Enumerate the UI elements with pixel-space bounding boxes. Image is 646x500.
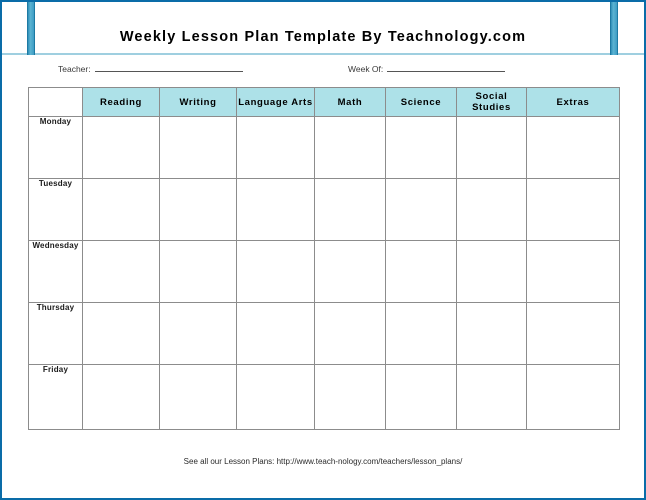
cell-monday-social-studies[interactable] bbox=[457, 117, 527, 179]
planner-grid-wrapper: Reading Writing Language Arts Math Scien… bbox=[28, 87, 619, 430]
weekly-planner-table: Reading Writing Language Arts Math Scien… bbox=[28, 87, 620, 430]
cell-friday-extras[interactable] bbox=[527, 365, 620, 430]
cell-wednesday-language-arts[interactable] bbox=[237, 241, 315, 303]
column-header-social-studies: Social Studies bbox=[457, 88, 527, 117]
row-label-monday: Monday bbox=[29, 117, 83, 179]
cell-wednesday-social-studies[interactable] bbox=[457, 241, 527, 303]
cell-thursday-language-arts[interactable] bbox=[237, 303, 315, 365]
cell-friday-math[interactable] bbox=[315, 365, 386, 430]
teacher-field: Teacher: bbox=[58, 62, 243, 74]
table-row: Tuesday bbox=[29, 179, 620, 241]
row-label-tuesday: Tuesday bbox=[29, 179, 83, 241]
column-header-writing: Writing bbox=[160, 88, 237, 117]
page-title: Weekly Lesson Plan Template By Teachnolo… bbox=[2, 29, 644, 45]
cell-tuesday-social-studies[interactable] bbox=[457, 179, 527, 241]
week-of-label: Week Of: bbox=[348, 64, 383, 74]
cell-friday-social-studies[interactable] bbox=[457, 365, 527, 430]
table-row: Thursday bbox=[29, 303, 620, 365]
cell-thursday-reading[interactable] bbox=[83, 303, 160, 365]
column-header-science: Science bbox=[386, 88, 457, 117]
cell-wednesday-math[interactable] bbox=[315, 241, 386, 303]
row-label-wednesday: Wednesday bbox=[29, 241, 83, 303]
table-row: Monday bbox=[29, 117, 620, 179]
column-header-day bbox=[29, 88, 83, 117]
cell-tuesday-math[interactable] bbox=[315, 179, 386, 241]
cell-friday-science[interactable] bbox=[386, 365, 457, 430]
cell-wednesday-writing[interactable] bbox=[160, 241, 237, 303]
column-header-reading: Reading bbox=[83, 88, 160, 117]
cell-tuesday-science[interactable] bbox=[386, 179, 457, 241]
column-header-language-arts: Language Arts bbox=[237, 88, 315, 117]
table-row: Wednesday bbox=[29, 241, 620, 303]
cell-thursday-extras[interactable] bbox=[527, 303, 620, 365]
cell-thursday-social-studies[interactable] bbox=[457, 303, 527, 365]
cell-tuesday-language-arts[interactable] bbox=[237, 179, 315, 241]
row-label-friday: Friday bbox=[29, 365, 83, 430]
teacher-label: Teacher: bbox=[58, 64, 91, 74]
cell-wednesday-extras[interactable] bbox=[527, 241, 620, 303]
week-of-field: Week Of: bbox=[348, 62, 505, 74]
teacher-input-line[interactable] bbox=[95, 62, 243, 72]
cell-monday-reading[interactable] bbox=[83, 117, 160, 179]
cell-friday-reading[interactable] bbox=[83, 365, 160, 430]
footer-note: See all our Lesson Plans: http://www.tea… bbox=[2, 457, 644, 466]
cell-wednesday-reading[interactable] bbox=[83, 241, 160, 303]
week-of-input-line[interactable] bbox=[387, 62, 505, 72]
cell-thursday-writing[interactable] bbox=[160, 303, 237, 365]
masthead: Weekly Lesson Plan Template By Teachnolo… bbox=[2, 2, 644, 55]
cell-wednesday-science[interactable] bbox=[386, 241, 457, 303]
lesson-plan-page: Weekly Lesson Plan Template By Teachnolo… bbox=[0, 0, 646, 500]
cell-monday-math[interactable] bbox=[315, 117, 386, 179]
table-header-row: Reading Writing Language Arts Math Scien… bbox=[29, 88, 620, 117]
cell-tuesday-extras[interactable] bbox=[527, 179, 620, 241]
cell-monday-science[interactable] bbox=[386, 117, 457, 179]
row-label-thursday: Thursday bbox=[29, 303, 83, 365]
column-header-math: Math bbox=[315, 88, 386, 117]
cell-monday-language-arts[interactable] bbox=[237, 117, 315, 179]
table-row: Friday bbox=[29, 365, 620, 430]
column-header-extras: Extras bbox=[527, 88, 620, 117]
cell-tuesday-reading[interactable] bbox=[83, 179, 160, 241]
meta-row: Teacher: Week Of: bbox=[2, 55, 644, 81]
cell-friday-writing[interactable] bbox=[160, 365, 237, 430]
cell-tuesday-writing[interactable] bbox=[160, 179, 237, 241]
cell-friday-language-arts[interactable] bbox=[237, 365, 315, 430]
cell-thursday-science[interactable] bbox=[386, 303, 457, 365]
cell-monday-extras[interactable] bbox=[527, 117, 620, 179]
cell-monday-writing[interactable] bbox=[160, 117, 237, 179]
cell-thursday-math[interactable] bbox=[315, 303, 386, 365]
